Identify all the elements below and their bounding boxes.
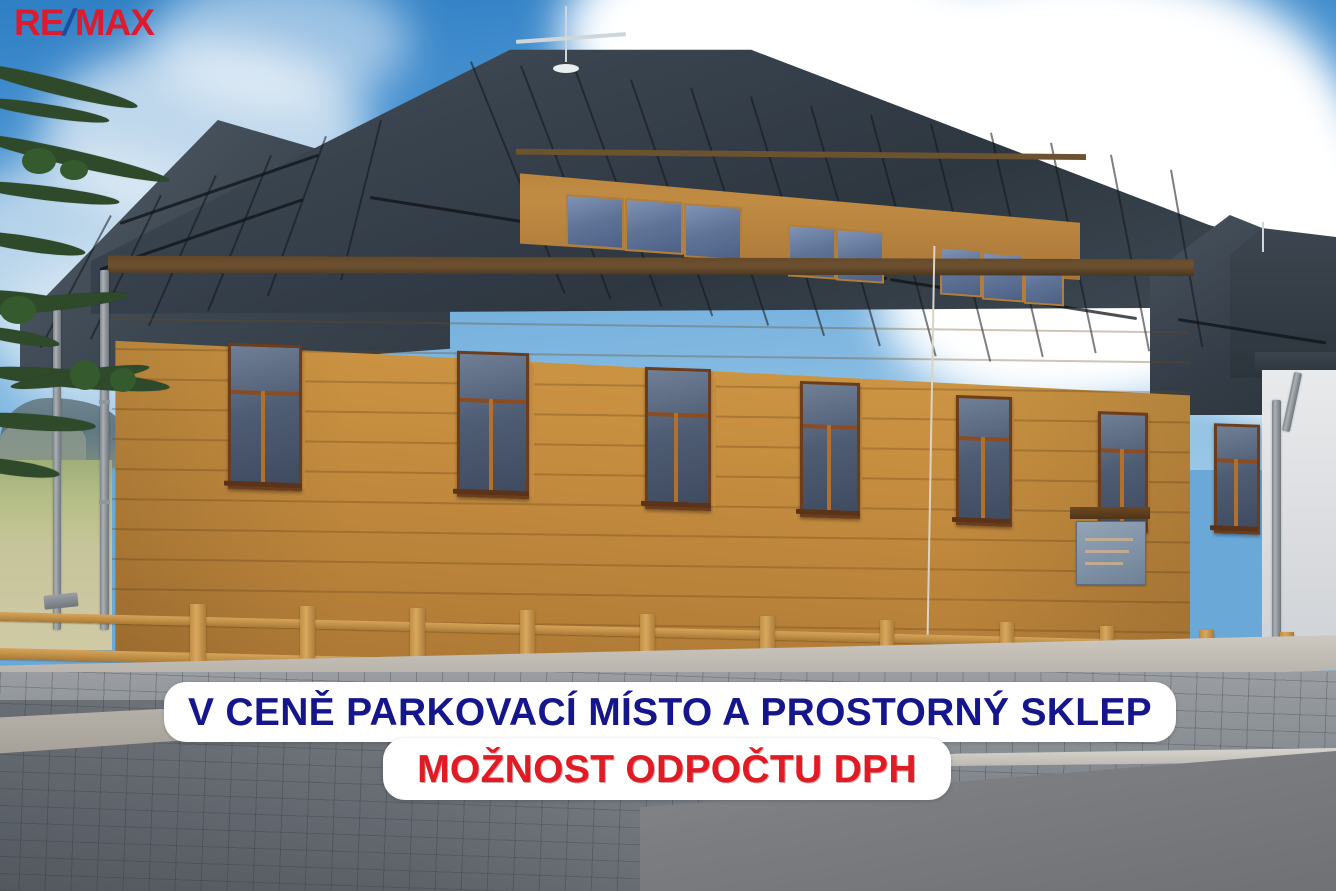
window-mullion — [981, 437, 985, 523]
remax-logo[interactable]: RE/MAX — [14, 4, 154, 41]
wall-plaque-sign — [1076, 521, 1146, 585]
window-transom — [231, 390, 299, 396]
spruce-needle-cluster — [110, 368, 136, 392]
window-mullion — [489, 399, 493, 495]
spruce-needle-cluster — [22, 148, 56, 174]
downspout-bracket — [99, 400, 110, 404]
facade-window — [800, 381, 860, 519]
promo-banner-primary-text: V CENĚ PARKOVACÍ MÍSTO A PROSTORNÝ SKLEP — [188, 693, 1152, 732]
dormer-window — [625, 198, 683, 255]
facade-window — [1214, 423, 1260, 535]
spruce-needle-cluster — [70, 360, 100, 390]
facade-window — [457, 351, 529, 500]
downspout-bracket — [99, 500, 110, 504]
lightning-rod — [565, 6, 567, 62]
dormer-window — [684, 203, 742, 261]
logo-text-re: RE — [14, 2, 63, 43]
lightning-rod-arm — [516, 32, 626, 44]
facade-window — [645, 367, 711, 511]
promo-banner-secondary-text: MOŽNOST ODPOČTU DPH — [417, 750, 917, 789]
listing-photo-canvas: RE/MAX V CENĚ PARKOVACÍ MÍSTO A PROSTORN… — [0, 0, 1336, 891]
window-transom — [648, 412, 708, 418]
logo-text-max: MAX — [75, 2, 154, 43]
dormer-window — [836, 228, 884, 283]
downspout-pipe — [100, 270, 109, 630]
window-mullion — [261, 391, 265, 487]
plaque-backboard — [1070, 507, 1150, 519]
lightning-rod — [1262, 222, 1264, 252]
promo-banner-primary: V CENĚ PARKOVACÍ MÍSTO A PROSTORNÝ SKLEP — [164, 682, 1176, 742]
downspout-pipe — [53, 300, 61, 630]
spruce-needle-cluster — [60, 160, 88, 180]
facade-window — [956, 395, 1012, 527]
spruce-needle-cluster — [0, 296, 36, 324]
promo-banner-secondary: MOŽNOST ODPOČTU DPH — [383, 738, 951, 800]
roof-vent — [553, 64, 579, 73]
window-transom — [460, 398, 526, 404]
facade-window — [228, 343, 302, 492]
window-mullion — [1234, 459, 1238, 531]
window-mullion — [827, 425, 831, 515]
dormer-window — [566, 194, 624, 250]
window-mullion — [674, 413, 678, 507]
